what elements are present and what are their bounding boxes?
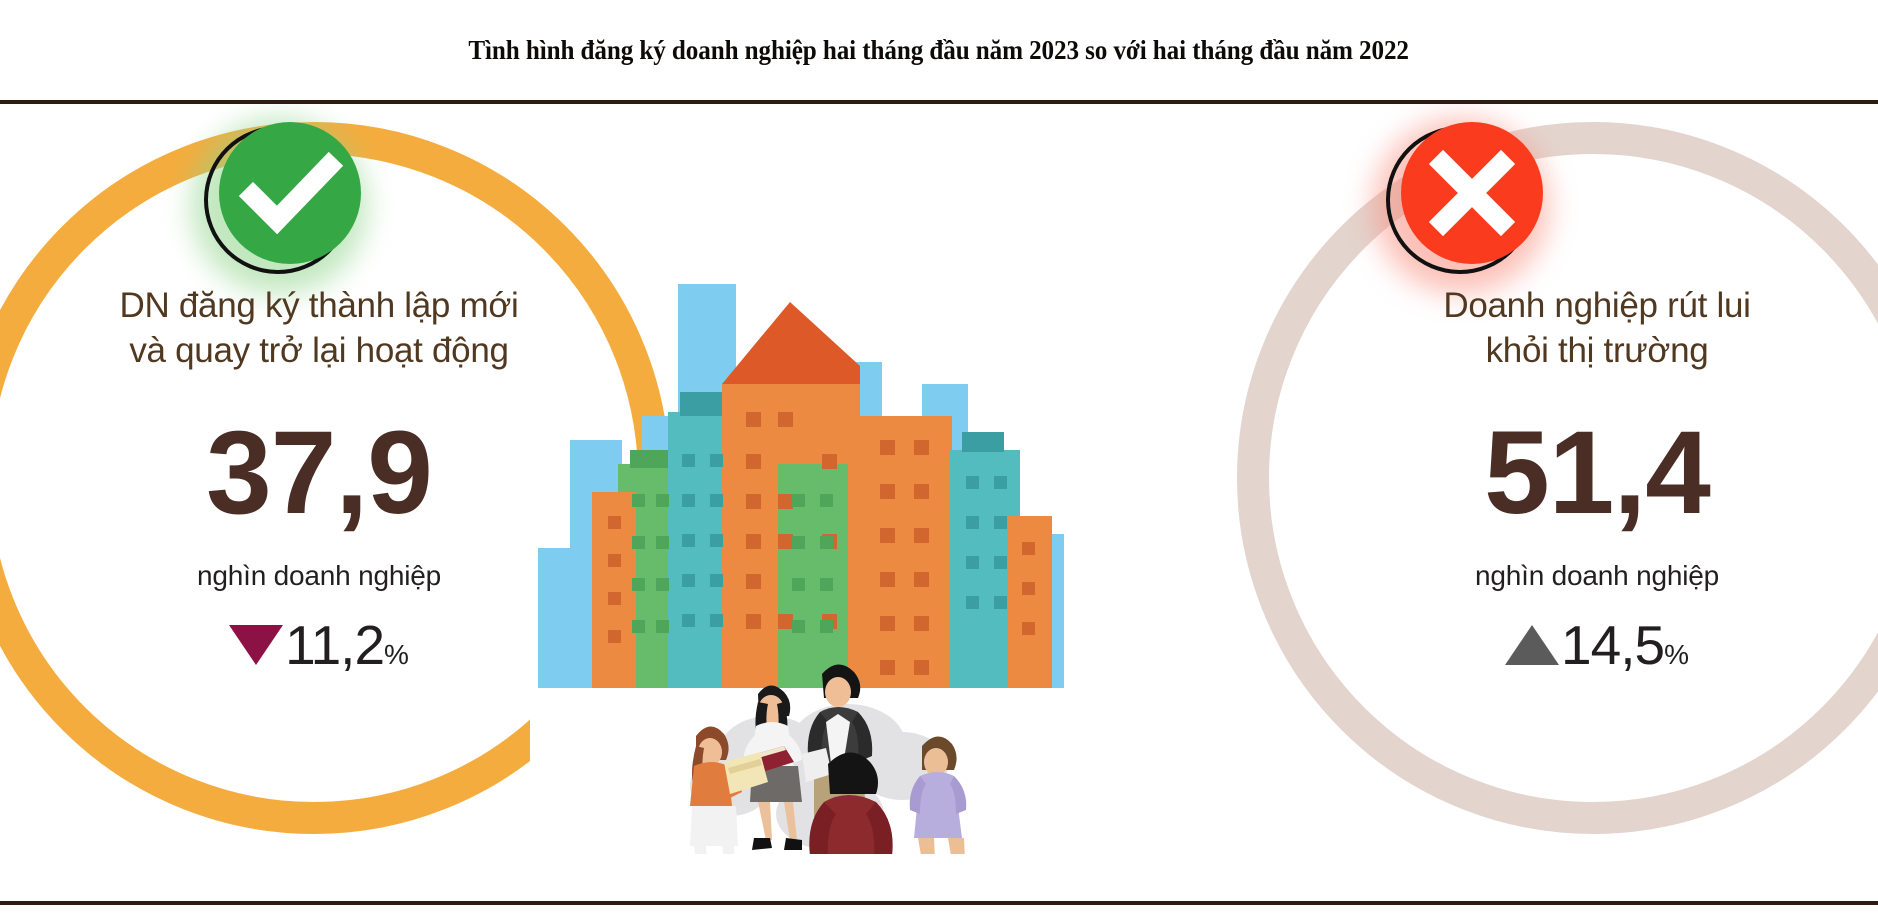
panel-right-delta-suffix: % xyxy=(1664,641,1689,673)
panel-left: DN đăng ký thành lập mới và quay trở lại… xyxy=(84,284,554,673)
content-panel: DN đăng ký thành lập mới và quay trở lại… xyxy=(0,104,1878,901)
panel-left-delta: 11,2 % xyxy=(84,618,554,673)
title-bar: Tình hình đăng ký doanh nghiệp hai tháng… xyxy=(0,0,1878,100)
panel-right: Doanh nghiệp rút lui khỏi thị trường 51,… xyxy=(1362,284,1832,673)
panel-left-delta-suffix: % xyxy=(384,641,409,673)
cross-circle-icon xyxy=(1395,122,1543,270)
panel-right-delta-value: 14,5 xyxy=(1561,618,1664,673)
page-title: Tình hình đăng ký doanh nghiệp hai tháng… xyxy=(469,35,1410,66)
check-glyph xyxy=(219,122,361,264)
triangle-up-icon xyxy=(1505,625,1559,665)
cross-glyph xyxy=(1401,122,1543,264)
panel-left-delta-value: 11,2 xyxy=(285,618,384,673)
panel-left-value: 37,9 xyxy=(84,414,554,532)
panel-left-unit: nghìn doanh nghiệp xyxy=(84,560,554,592)
infographic-root: Tình hình đăng ký doanh nghiệp hai tháng… xyxy=(0,0,1878,923)
panel-right-delta: 14,5 % xyxy=(1362,618,1832,673)
check-circle-icon xyxy=(213,122,361,270)
city-illustration xyxy=(530,154,1090,854)
panel-right-headline: Doanh nghiệp rút lui khỏi thị trường xyxy=(1362,284,1832,374)
triangle-down-icon xyxy=(229,625,283,665)
panel-right-value: 51,4 xyxy=(1362,414,1832,532)
panel-left-headline: DN đăng ký thành lập mới và quay trở lại… xyxy=(84,284,554,374)
frame-rule-bottom xyxy=(0,901,1878,905)
panel-right-unit: nghìn doanh nghiệp xyxy=(1362,560,1832,592)
